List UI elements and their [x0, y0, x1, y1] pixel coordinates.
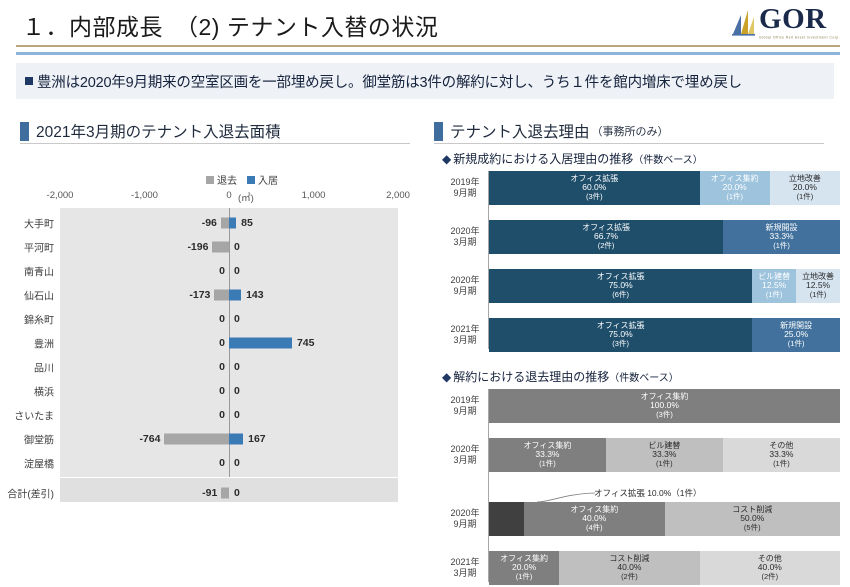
category-label: さいたま [14, 408, 54, 423]
value-label-enter: 167 [248, 433, 266, 445]
category-label: 合計(差引) [7, 486, 54, 501]
x-axis-tick-label: -2,000 [47, 190, 74, 201]
value-label-enter: 0 [234, 409, 240, 421]
legend-label: 退去 [217, 172, 237, 187]
value-label-enter: 0 [234, 457, 240, 469]
stacked-bar: オフィス集約33.3%(1件)ビル建替33.3%(1件)その他33.3%(1件) [489, 438, 840, 472]
stacked-chart-row: 2020年3月期オフィス集約33.3%(1件)ビル建替33.3%(1件)その他3… [442, 438, 840, 472]
value-label-exit: 0 [219, 361, 225, 373]
segment-count: (2件) [598, 242, 615, 251]
stacked-bar: オフィス集約100.0%(3件) [489, 389, 840, 423]
segment-count: (2件) [761, 573, 778, 582]
move-in-reason-title: 新規成約における入居理由の推移 [453, 152, 633, 166]
x-axis: -2,000-1,00001,0002,000(㎡) [18, 190, 418, 204]
category-label: 平河町 [24, 240, 54, 255]
bar-segment: コスト削減50.0%(5件) [665, 502, 841, 536]
period-label-year: 2020年 [442, 226, 488, 237]
bar-enter [229, 290, 241, 301]
bar-segment: オフィス拡張60.0%(3件) [489, 171, 700, 205]
period-label-term: 3月期 [442, 455, 488, 466]
period-label: 2021年3月期 [442, 324, 488, 347]
value-label-exit: 0 [219, 409, 225, 421]
period-label-term: 3月期 [442, 237, 488, 248]
bar-segment: 新規開設25.0%(1件) [752, 318, 840, 352]
row-gap [442, 474, 840, 487]
move-in-reason-subtitle: （件数ベース） [633, 155, 703, 166]
segment-count: (1件) [766, 291, 783, 300]
period-label: 2019年9月期 [442, 177, 488, 200]
category-label: 横浜 [34, 384, 54, 399]
move-out-reason-heading: ◆解約における退去理由の推移（件数ベース） [442, 368, 840, 385]
category-label: 御堂筋 [24, 432, 54, 447]
category-label: 錦糸町 [24, 312, 54, 327]
move-out-reason-block: ◆解約における退去理由の推移（件数ベース） 2019年9月期オフィス集約100.… [442, 368, 840, 587]
chart-legend: 退去入居 [206, 172, 278, 187]
category-label: 淀屋橋 [24, 456, 54, 471]
chart-row: 横浜00 [60, 379, 398, 403]
bar-segment: ビル建替12.5%(1件) [752, 269, 796, 303]
right-section-heading: テナント入退去理由 （事務所のみ） [434, 120, 669, 142]
x-axis-tick-label: 2,000 [386, 190, 410, 201]
legend-item-enter: 入居 [247, 172, 278, 187]
diamond-bullet-icon: ◆ [442, 370, 451, 384]
section-accent-tab [434, 122, 443, 141]
chart-row: 錦糸町00 [60, 307, 398, 331]
period-label-year: 2020年 [442, 508, 488, 519]
period-label-term: 3月期 [442, 568, 488, 579]
segment-count: (3件) [586, 193, 603, 202]
stacked-bar: オフィス拡張75.0%(3件)新規開設25.0%(1件) [489, 318, 840, 352]
bar-segment: その他33.3%(1件) [723, 438, 840, 472]
bar-exit [164, 434, 229, 445]
value-label-exit: -196 [187, 241, 208, 253]
bar-segment: オフィス拡張66.7%(2件) [489, 220, 723, 254]
logo-wordmark: GOR [759, 6, 827, 34]
period-label: 2020年3月期 [442, 444, 488, 467]
diamond-bullet-icon: ◆ [442, 152, 451, 166]
category-label: 品川 [34, 360, 54, 375]
stacked-bar: オフィス拡張60.0%(3件)オフィス集約20.0%(1件)立地改善20.0%(… [489, 171, 840, 205]
bar-segment: オフィス拡張75.0%(3件) [489, 318, 752, 352]
legend-swatch-icon [247, 176, 255, 184]
chart-row: さいたま00 [60, 403, 398, 427]
segment-count: (3件) [612, 340, 629, 349]
segment-count: (1件) [726, 193, 743, 202]
period-label-term: 9月期 [442, 406, 488, 417]
left-section-underline [20, 143, 410, 144]
segment-count: (1件) [656, 460, 673, 469]
stacked-chart-row: 2019年9月期オフィス拡張60.0%(3件)オフィス集約20.0%(1件)立地… [442, 171, 840, 205]
bar-segment: オフィス拡張75.0%(6件) [489, 269, 752, 303]
period-label-year: 2019年 [442, 177, 488, 188]
row-gap [442, 256, 840, 269]
value-label-exit: -764 [139, 433, 160, 445]
value-label-exit: -173 [189, 289, 210, 301]
category-label: 大手町 [24, 216, 54, 231]
stacked-chart-row: 2019年9月期オフィス集約100.0%(3件) [442, 389, 840, 423]
bar-exit [221, 218, 229, 229]
square-bullet-icon [25, 77, 33, 85]
chart-plot-area: 大手町-9685平河町-1960南青山00仙石山-173143錦糸町00豊洲07… [60, 208, 398, 496]
right-section-note: （事務所のみ） [592, 123, 669, 139]
move-in-reason-chart: 2019年9月期オフィス拡張60.0%(3件)オフィス集約20.0%(1件)立地… [442, 171, 840, 352]
bar-enter [229, 338, 292, 349]
category-label: 南青山 [24, 264, 54, 279]
x-axis-tick-label: 0 [226, 190, 231, 201]
page-title: １．内部成長 （2) テナント入替の状況 [22, 8, 438, 42]
stacked-bar: オフィス集約20.0%(1件)コスト削減40.0%(2件)その他40.0%(2件… [489, 551, 840, 585]
bar-segment: オフィス集約100.0%(3件) [489, 389, 840, 423]
category-label: 豊洲 [34, 336, 54, 351]
period-label: 2021年3月期 [442, 557, 488, 580]
segment-count: (1件) [773, 242, 790, 251]
period-label-year: 2020年 [442, 275, 488, 286]
bar-segment: オフィス集約33.3%(1件) [489, 438, 606, 472]
segment-count: (3件) [656, 411, 673, 420]
segment-count: (4件) [586, 524, 603, 533]
period-label-term: 9月期 [442, 519, 488, 530]
bar-segment: ビル建替33.3%(1件) [606, 438, 723, 472]
bar-exit [212, 242, 229, 253]
period-label: 2019年9月期 [442, 395, 488, 418]
period-label-term: 9月期 [442, 188, 488, 199]
stacked-chart-row: 2020年3月期オフィス拡張66.7%(2件)新規開設33.3%(1件) [442, 220, 840, 254]
value-label-enter: 0 [234, 487, 240, 499]
move-in-reason-heading: ◆新規成約における入居理由の推移（件数ベース） [442, 150, 840, 167]
segment-count: (1件) [810, 291, 827, 300]
segment-count: (1件) [539, 460, 556, 469]
segment-count: (5件) [744, 524, 761, 533]
move-out-reason-title: 解約における退去理由の推移 [453, 370, 609, 384]
chart-row: 豊洲0745 [60, 331, 398, 355]
sail-logo-icon [731, 6, 757, 36]
right-section-underline [434, 143, 824, 144]
chart-annotation: オフィス拡張 10.0%（1件） [489, 487, 840, 502]
stacked-bar: オフィス拡張66.7%(2件)新規開設33.3%(1件) [489, 220, 840, 254]
value-label-enter: 0 [234, 385, 240, 397]
segment-count: (1件) [797, 193, 814, 202]
bar-exit [221, 488, 229, 499]
stacked-chart-row: 2020年9月期オフィス拡張75.0%(6件)ビル建替12.5%(1件)立地改善… [442, 269, 840, 303]
chart-row: 平河町-1960 [60, 235, 398, 259]
stacked-chart-row: 2020年9月期オフィス集約40.0%(4件)コスト削減50.0%(5件) [442, 502, 840, 536]
slide-header: １．内部成長 （2) テナント入替の状況 GOR Global Office R… [0, 0, 850, 58]
period-label-year: 2021年 [442, 557, 488, 568]
x-axis-tick-label: -1,000 [131, 190, 158, 201]
legend-swatch-icon [206, 176, 214, 184]
value-label-enter: 745 [297, 337, 315, 349]
bar-segment: 新規開設33.3%(1件) [723, 220, 840, 254]
value-label-exit: 0 [219, 457, 225, 469]
category-label: 仙石山 [24, 288, 54, 303]
bar-segment: オフィス集約20.0%(1件) [700, 171, 770, 205]
segment-count: (6件) [612, 291, 629, 300]
x-axis-tick-label: 1,000 [302, 190, 326, 201]
value-label-enter: 0 [234, 241, 240, 253]
chart-row: 淀屋橋00 [60, 451, 398, 475]
legend-item-exit: 退去 [206, 172, 237, 187]
legend-label: 入居 [258, 172, 278, 187]
value-label-enter: 0 [234, 361, 240, 373]
chart-row: 御堂筋-764167 [60, 427, 398, 451]
period-label-year: 2020年 [442, 444, 488, 455]
value-label-exit: -91 [202, 487, 217, 499]
value-label-enter: 143 [246, 289, 264, 301]
bar-enter [229, 434, 243, 445]
period-label: 2020年9月期 [442, 508, 488, 531]
value-label-exit: -96 [202, 217, 217, 229]
section-accent-tab [20, 122, 29, 141]
row-gap [442, 538, 840, 551]
segment-count: (2件) [621, 573, 638, 582]
right-section-title: テナント入退去理由 [450, 120, 590, 142]
callout-leader-line-icon [537, 491, 595, 502]
row-gap [442, 207, 840, 220]
lead-message-text: 豊洲は2020年9月期来の空室区画を一部埋め戻し。御堂筋は3件の解約に対し、うち… [37, 71, 742, 92]
stacked-bar: オフィス拡張75.0%(6件)ビル建替12.5%(1件)立地改善12.5%(1件… [489, 269, 840, 303]
value-label-exit: 0 [219, 337, 225, 349]
chart-row: 南青山00 [60, 259, 398, 283]
annotation-label: オフィス拡張 10.0%（1件） [594, 487, 702, 499]
logo-tagline: Global Office Reit Asset Investment Corp… [759, 35, 840, 39]
value-label-exit: 0 [219, 265, 225, 277]
value-label-enter: 0 [234, 313, 240, 325]
period-label-year: 2021年 [442, 324, 488, 335]
period-label-year: 2019年 [442, 395, 488, 406]
chart-row: 大手町-9685 [60, 211, 398, 235]
chart-row: 仙石山-173143 [60, 283, 398, 307]
period-label-term: 9月期 [442, 286, 488, 297]
period-label-term: 3月期 [442, 335, 488, 346]
row-gap [442, 305, 840, 318]
chart-row: 合計(差引)-910 [60, 481, 398, 505]
period-label: 2020年9月期 [442, 275, 488, 298]
move-out-reason-subtitle: （件数ベース） [609, 373, 679, 384]
bar-segment: オフィス集約20.0%(1件) [489, 551, 559, 585]
bar-exit [214, 290, 229, 301]
value-label-enter: 85 [241, 217, 253, 229]
header-blue-rule [16, 52, 840, 55]
stacked-chart-row: 2021年3月期オフィス拡張75.0%(3件)新規開設25.0%(1件) [442, 318, 840, 352]
row-gap [442, 425, 840, 438]
header-gold-rule [16, 45, 840, 47]
segment-count: (1件) [788, 340, 805, 349]
value-label-exit: 0 [219, 385, 225, 397]
bar-segment: その他40.0%(2件) [700, 551, 840, 585]
bar-segment: オフィス集約40.0%(4件) [524, 502, 664, 536]
value-label-exit: 0 [219, 313, 225, 325]
company-logo: GOR Global Office Reit Asset Investment … [731, 6, 840, 39]
left-section-heading: 2021年3月期のテナント入退去面積 [20, 120, 281, 142]
tenant-area-chart: 退去入居 -2,000-1,00001,0002,000(㎡) 大手町-9685… [18, 148, 418, 518]
move-in-reason-block: ◆新規成約における入居理由の推移（件数ベース） 2019年9月期オフィス拡張60… [442, 150, 840, 354]
segment-count: (1件) [516, 573, 533, 582]
bar-segment: 立地改善12.5%(1件) [796, 269, 840, 303]
bar-enter [229, 218, 236, 229]
stacked-bar: オフィス集約40.0%(4件)コスト削減50.0%(5件) [489, 502, 840, 536]
value-label-enter: 0 [234, 265, 240, 277]
chart-row: 品川00 [60, 355, 398, 379]
x-axis-unit-label: (㎡) [238, 190, 254, 204]
lead-message-band: 豊洲は2020年9月期来の空室区画を一部埋め戻し。御堂筋は3件の解約に対し、うち… [16, 63, 834, 99]
segment-count: (1件) [773, 460, 790, 469]
bar-segment: 立地改善20.0%(1件) [770, 171, 840, 205]
move-out-reason-chart: 2019年9月期オフィス集約100.0%(3件)2020年3月期オフィス集約33… [442, 389, 840, 585]
bar-segment: コスト削減40.0%(2件) [559, 551, 699, 585]
left-section-title: 2021年3月期のテナント入退去面積 [36, 120, 281, 142]
period-label: 2020年3月期 [442, 226, 488, 249]
bar-segment [489, 502, 524, 536]
stacked-chart-row: 2021年3月期オフィス集約20.0%(1件)コスト削減40.0%(2件)その他… [442, 551, 840, 585]
